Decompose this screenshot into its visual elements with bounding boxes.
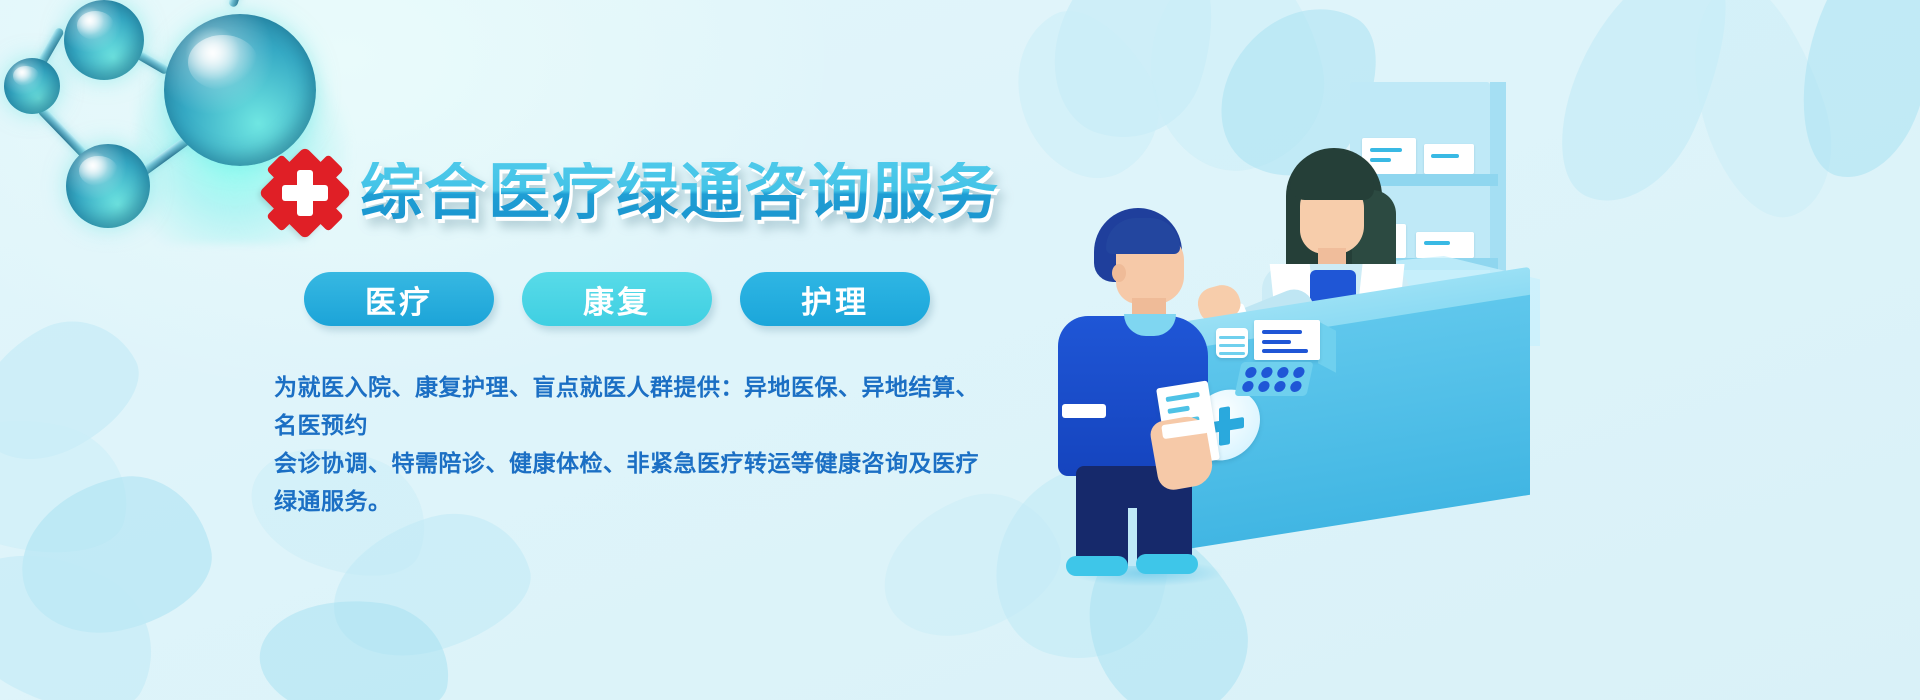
medicine-group-on-counter: [1212, 306, 1342, 396]
banner-description: 为就医入院、康复护理、盲点就医人群提供：异地医保、异地结算、名医预约 会诊协调、…: [274, 368, 986, 520]
medical-service-banner: 综合医疗绿通咨询服务 医疗 康复 护理 为就医入院、康复护理、盲点就医人群提供：…: [0, 0, 1920, 700]
molecule-atom: [164, 14, 316, 166]
male-customer: [1050, 208, 1220, 578]
flower-silhouette-bottom-left: [0, 330, 290, 700]
molecule-atom: [64, 0, 144, 80]
service-tag-label: 护理: [801, 277, 869, 322]
molecule-bond: [88, 23, 170, 76]
service-tag-medical[interactable]: 医疗: [304, 272, 494, 326]
molecule-bond: [123, 116, 217, 188]
molecule-atom: [4, 58, 60, 114]
medicine-box: [1254, 320, 1320, 360]
molecule-bond: [228, 0, 258, 8]
service-tag-label: 康复: [583, 277, 651, 322]
molecule-bond: [37, 105, 103, 173]
service-tag-nursing[interactable]: 护理: [740, 272, 930, 326]
molecule-atom: [66, 144, 150, 228]
medicine-cup: [1216, 328, 1248, 358]
pharmacy-consultation-illustration: [1020, 60, 1660, 580]
medical-cross-diamond-icon: [272, 160, 338, 226]
pill-blister-pack: [1234, 362, 1313, 396]
service-tag-rehabilitation[interactable]: 康复: [522, 272, 712, 326]
molecule-bond: [26, 27, 65, 85]
service-tag-label: 医疗: [365, 277, 433, 322]
description-line: 会诊协调、特需陪诊、健康体检、非紧急医疗转运等健康咨询及医疗绿通服务。: [274, 444, 986, 520]
page-title: 综合医疗绿通咨询服务: [360, 162, 1000, 224]
description-line: 为就医入院、康复护理、盲点就医人群提供：异地医保、异地结算、名医预约: [274, 368, 986, 444]
